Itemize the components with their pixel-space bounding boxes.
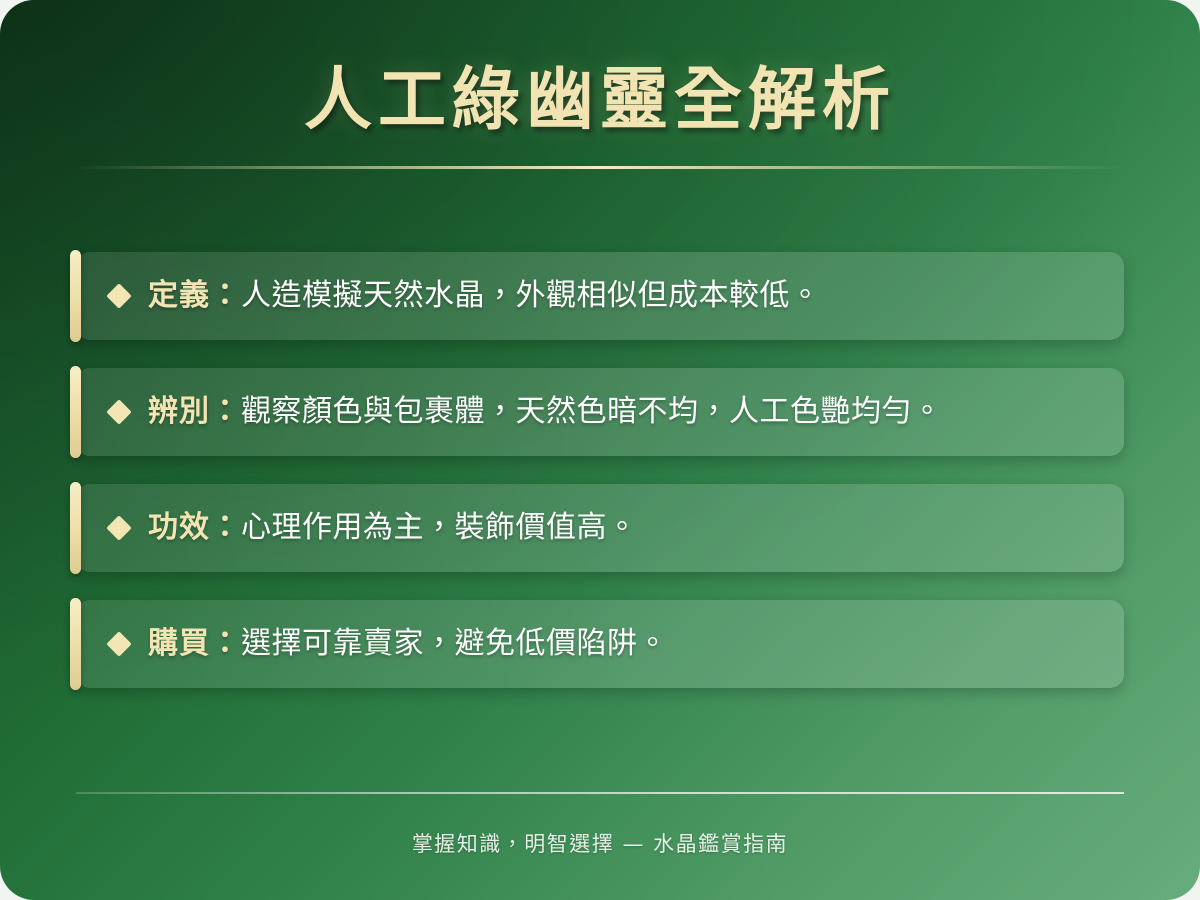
diamond-bullet-icon [106, 283, 131, 308]
title-section: 人工綠幽靈全解析 [0, 0, 1200, 169]
bullet-card[interactable]: 辨別：觀察顏色與包裹體，天然色暗不均，人工色艷均勻。 [76, 368, 1124, 456]
slide-title: 人工綠幽靈全解析 [0, 62, 1200, 140]
bullet-card-body: 心理作用為主，裝飾價值高。 [241, 510, 638, 545]
bullet-card-text: 功效：心理作用為主，裝飾價值高。 [148, 509, 638, 547]
bullet-card-label: 購買： [148, 626, 241, 661]
bullet-card-list: 定義：人造模擬天然水晶，外觀相似但成本較低。 辨別：觀察顏色與包裹體，天然色暗不… [76, 169, 1124, 688]
bullet-card-body: 選擇可靠賣家，避免低價陷阱。 [241, 626, 668, 661]
bullet-card-text: 購買：選擇可靠賣家，避免低價陷阱。 [148, 625, 668, 663]
diamond-bullet-icon [106, 631, 131, 656]
bullet-card[interactable]: 購買：選擇可靠賣家，避免低價陷阱。 [76, 600, 1124, 688]
bullet-card-label: 功效： [148, 510, 241, 545]
bullet-card[interactable]: 定義：人造模擬天然水晶，外觀相似但成本較低。 [76, 252, 1124, 340]
slide-canvas: 人工綠幽靈全解析 定義：人造模擬天然水晶，外觀相似但成本較低。 辨別：觀察顏色與… [0, 0, 1200, 900]
bullet-card-body: 人造模擬天然水晶，外觀相似但成本較低。 [241, 278, 821, 313]
bullet-card-label: 定義： [148, 278, 241, 313]
bullet-card-body: 觀察顏色與包裹體，天然色暗不均，人工色艷均勻。 [241, 394, 943, 429]
bullet-card-label: 辨別： [148, 394, 241, 429]
bullet-card[interactable]: 功效：心理作用為主，裝飾價值高。 [76, 484, 1124, 572]
footer-caption: 掌握知識，明智選擇 — 水晶鑑賞指南 [0, 828, 1200, 858]
bullet-card-text: 定義：人造模擬天然水晶，外觀相似但成本較低。 [148, 277, 821, 315]
footer-section: 掌握知識，明智選擇 — 水晶鑑賞指南 [0, 792, 1200, 900]
footer-divider [76, 792, 1124, 794]
diamond-bullet-icon [106, 515, 131, 540]
diamond-bullet-icon [106, 399, 131, 424]
bullet-card-text: 辨別：觀察顏色與包裹體，天然色暗不均，人工色艷均勻。 [148, 393, 943, 431]
